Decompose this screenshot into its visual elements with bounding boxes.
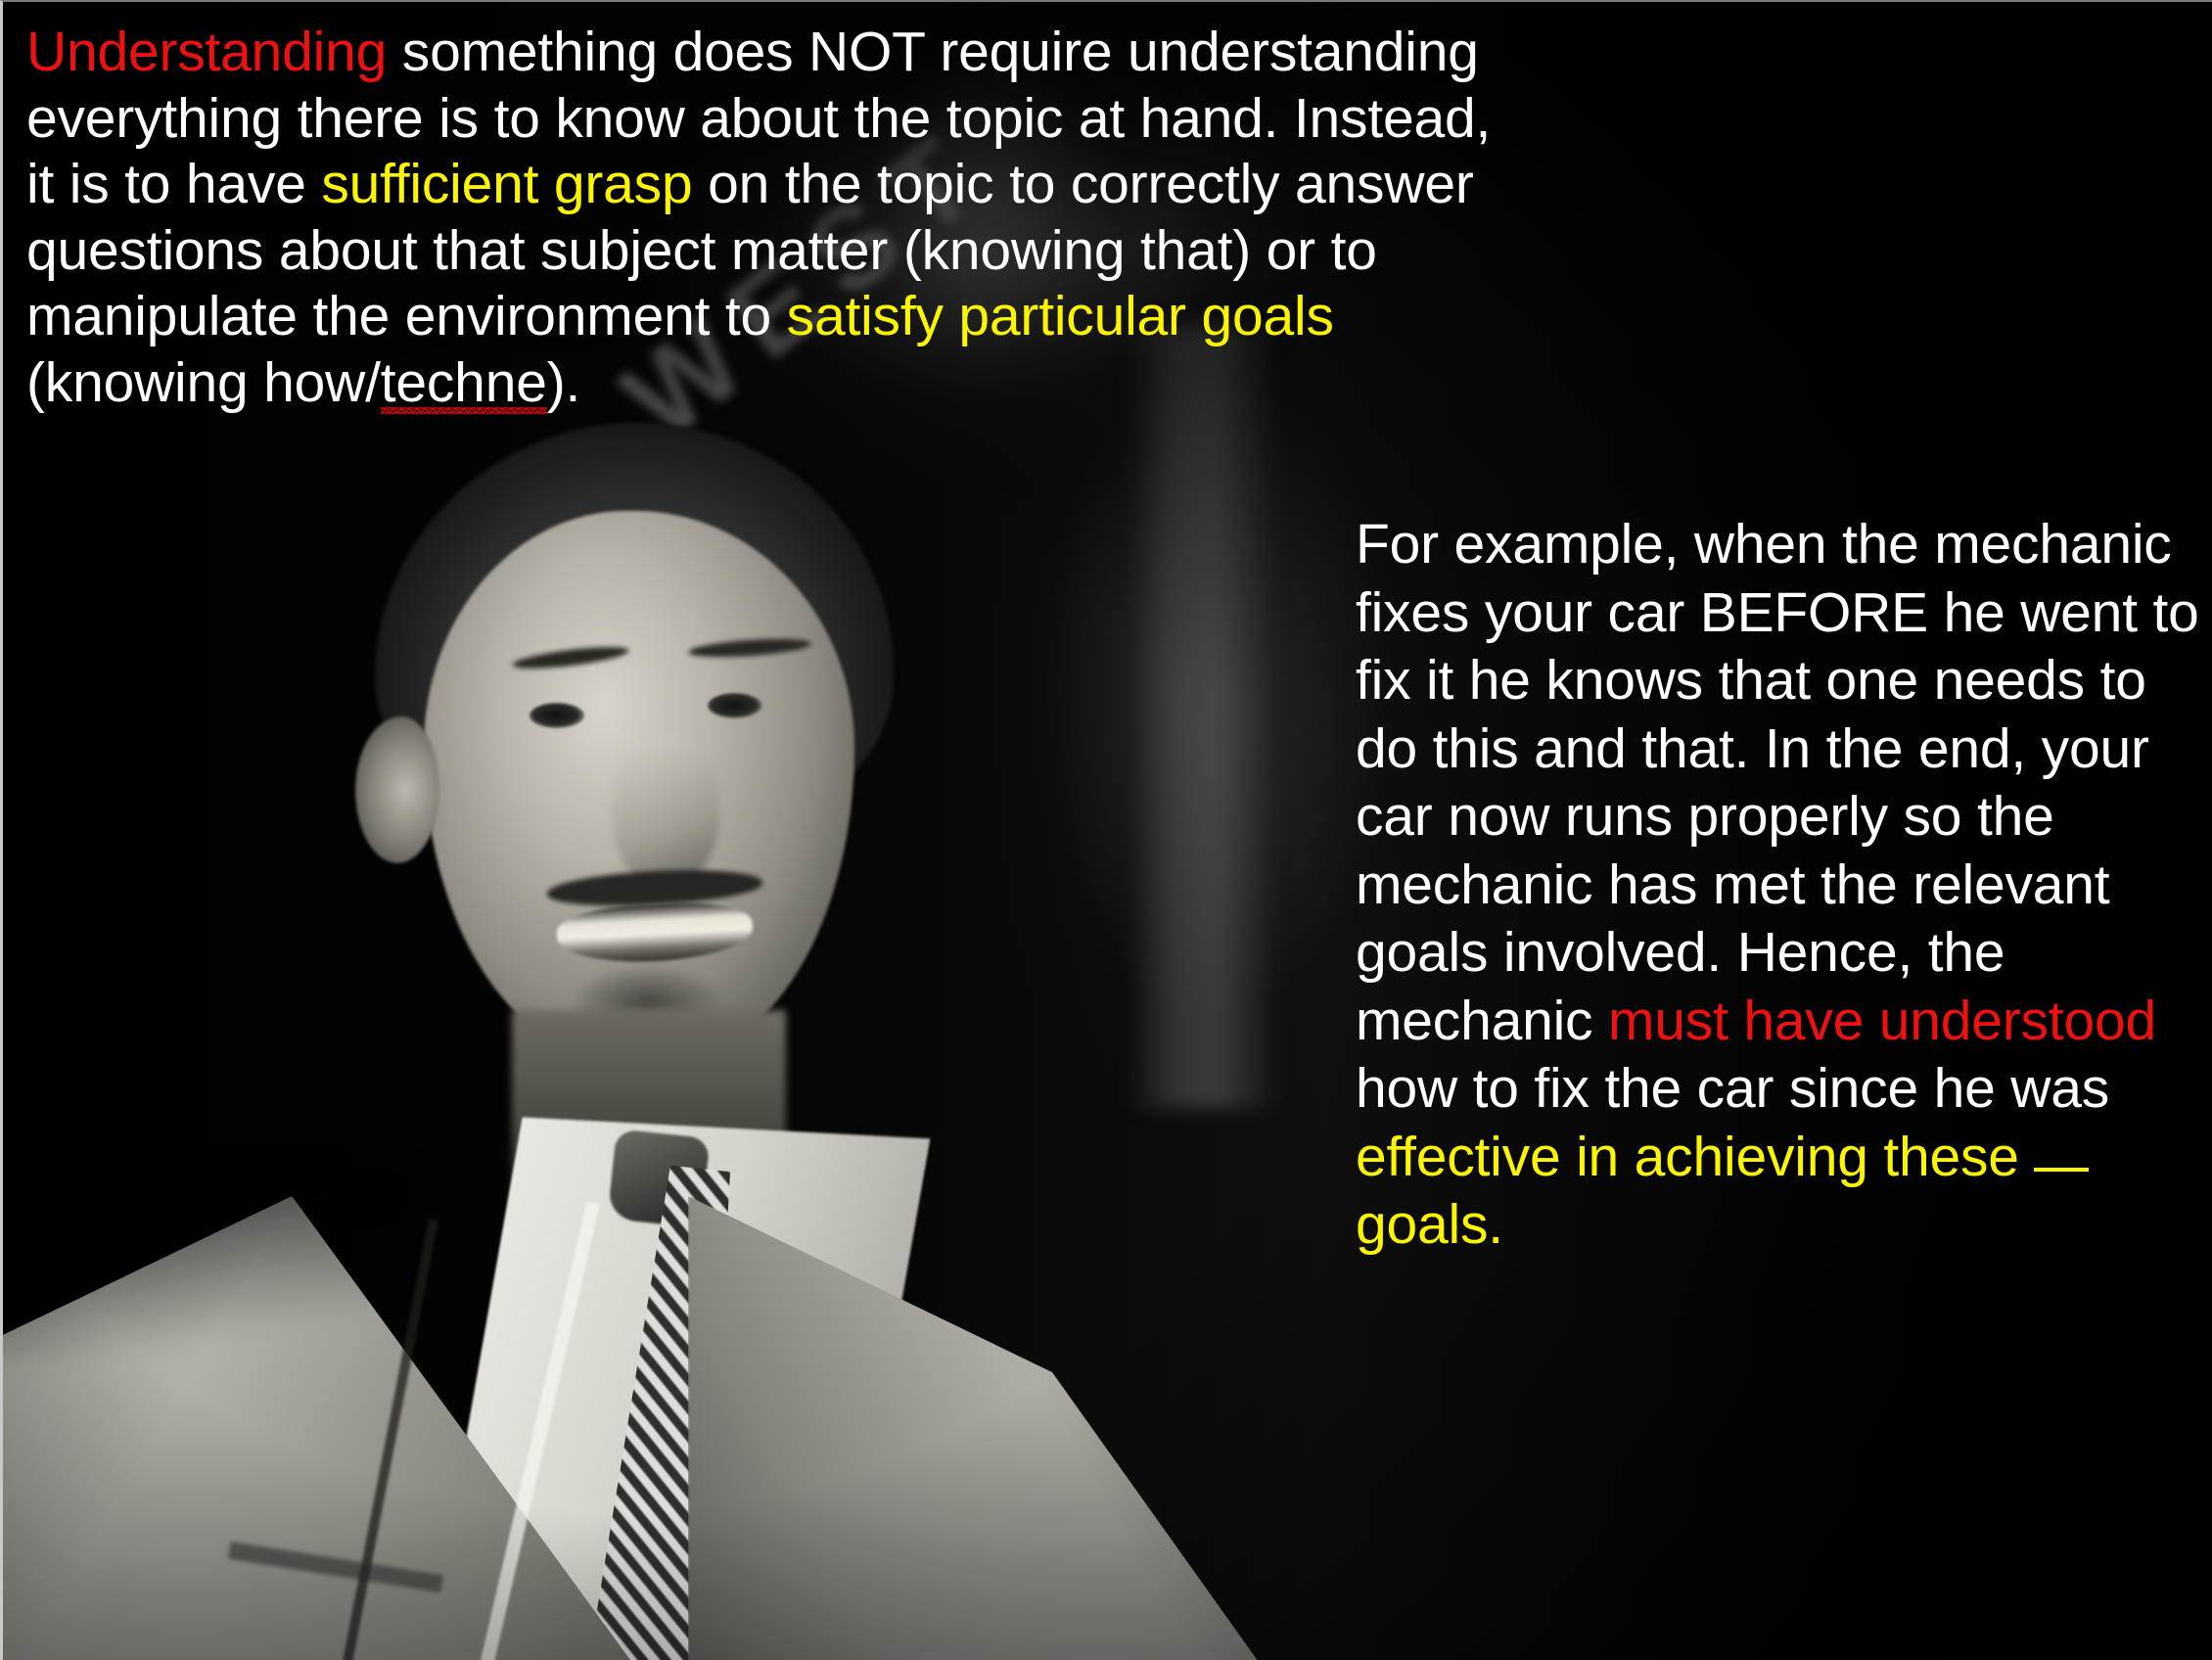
portrait-subject — [3, 423, 1393, 1660]
right-text-run-1: For example, when the mechanic fixes you… — [1356, 513, 2199, 1052]
right-highlight-must-have-understood: must have understood — [1608, 990, 2156, 1052]
top-text-run-4: ). — [547, 351, 580, 414]
subject-nose — [612, 734, 719, 891]
top-text-run-3: (knowing how/ — [26, 351, 381, 414]
top-highlight-understanding: Understanding — [26, 21, 387, 83]
slide-canvas: WEST Understandin — [0, 0, 2212, 1660]
subject-ear — [355, 716, 439, 863]
misspelled-word-techne: techne — [381, 350, 547, 417]
subject-eye-left — [530, 703, 584, 728]
subject-eye-right — [708, 693, 762, 718]
right-paragraph: For example, when the mechanic fixes you… — [1356, 511, 2205, 1260]
goals-indent-rule — [2034, 1168, 2089, 1172]
right-highlight-goals: goals. — [1356, 1193, 1503, 1256]
right-text-run-2: how to fix the car since he was — [1356, 1057, 2109, 1120]
top-paragraph: Understanding something does NOT require… — [26, 20, 1514, 416]
subject-shoulder-shadow — [3, 1167, 414, 1362]
subject-jacket-right — [688, 1196, 1275, 1660]
right-highlight-effective-in-achieving-these: effective in achieving these — [1356, 1126, 2019, 1188]
top-highlight-sufficient-grasp: sufficient grasp — [321, 153, 692, 215]
top-highlight-satisfy-particular-goals: satisfy particular goals — [787, 285, 1334, 347]
